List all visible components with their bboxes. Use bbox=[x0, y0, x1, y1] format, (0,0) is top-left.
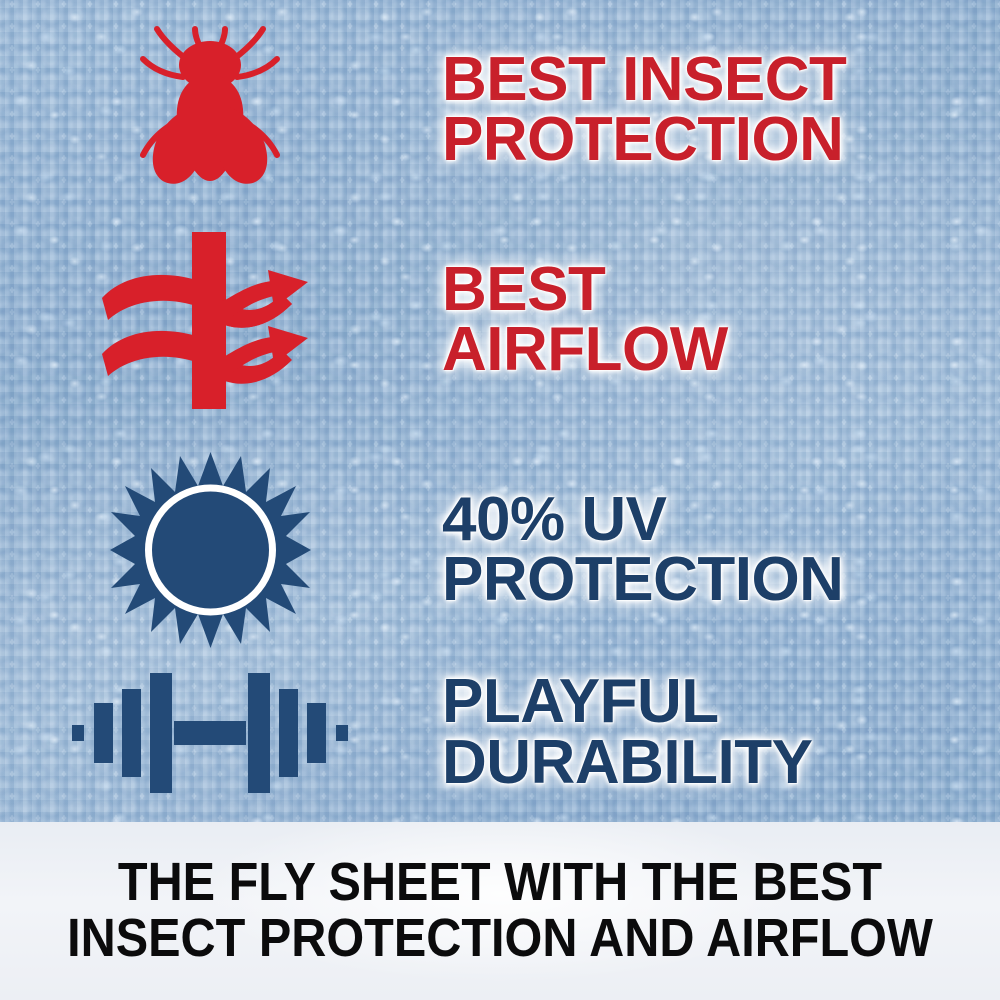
icon-cell-insect-protection bbox=[0, 15, 420, 205]
icon-cell-durability bbox=[0, 663, 420, 803]
feature-label-uv-protection: 40% UV PROTECTION bbox=[442, 490, 1000, 610]
feature-label-airflow: BEST AIRFLOW bbox=[442, 260, 1000, 380]
label-cell-airflow: BEST AIRFLOW bbox=[420, 260, 1000, 380]
feature-row-durability: PLAYFUL DURABILITY bbox=[0, 655, 1000, 810]
label-cell-durability: PLAYFUL DURABILITY bbox=[420, 672, 1000, 792]
feature-row-insect-protection: BEST INSECT PROTECTION bbox=[0, 10, 1000, 210]
feature-row-uv-protection: 40% UV PROTECTION bbox=[0, 445, 1000, 655]
label-cell-insect-protection: BEST INSECT PROTECTION bbox=[420, 50, 1000, 170]
product-feature-infographic: BEST INSECT PROTECTION bbox=[0, 0, 1000, 1000]
airflow-icon bbox=[96, 228, 324, 413]
caption-headline: THE FLY SHEET WITH THE BEST INSECT PROTE… bbox=[67, 855, 933, 966]
label-cell-uv-protection: 40% UV PROTECTION bbox=[420, 490, 1000, 610]
feature-label-insect-protection: BEST INSECT PROTECTION bbox=[442, 50, 1000, 170]
caption-band: THE FLY SHEET WITH THE BEST INSECT PROTE… bbox=[0, 822, 1000, 1000]
fly-icon bbox=[125, 15, 295, 205]
sun-uv-icon bbox=[108, 450, 313, 650]
icon-cell-airflow bbox=[0, 228, 420, 413]
dumbbell-icon bbox=[70, 663, 350, 803]
feature-label-durability: PLAYFUL DURABILITY bbox=[442, 672, 1000, 792]
feature-row-airflow: BEST AIRFLOW bbox=[0, 225, 1000, 415]
icon-cell-uv-protection bbox=[0, 450, 420, 650]
